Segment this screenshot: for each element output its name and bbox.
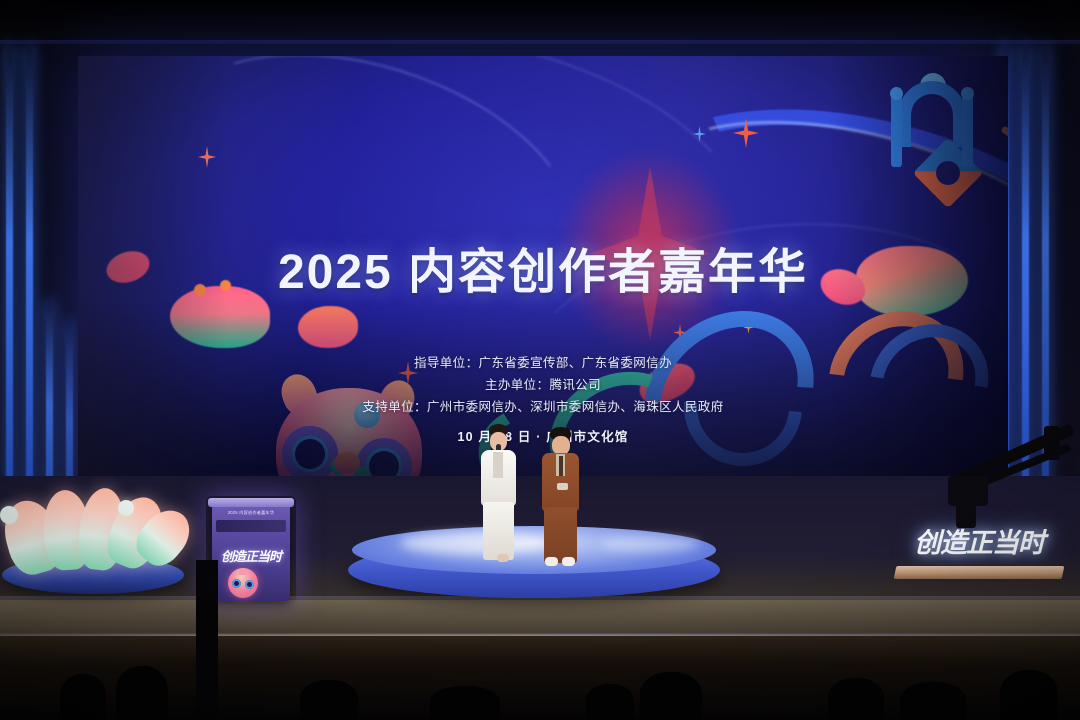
platform-highlight: [400, 532, 550, 554]
audience-silhouette: [116, 666, 168, 720]
credit-line-support: 支持单位：广州市委网信办、深圳市委网信办、海珠区人民政府: [78, 396, 1008, 418]
foreground-pillar: [196, 560, 218, 720]
audience-silhouette: [60, 674, 106, 720]
sculpture-bead: [118, 500, 134, 516]
calligraphy-sign-base: [894, 566, 1065, 579]
credit-line-guidance: 指导单位：广东省委宣传部、广东省委网信办: [78, 352, 1008, 374]
podium-header-text: 2025 内容创作者嘉年华: [216, 507, 286, 518]
event-title: 2025 内容创作者嘉年华: [78, 232, 1008, 302]
platform-highlight: [600, 536, 700, 552]
podium-band: [216, 520, 286, 532]
podium-top: [208, 498, 294, 507]
stage-photo: 2025 内容创作者嘉年华 指导单位：广东省委宣传部、广东省委网信办 主办单位：…: [0, 0, 1080, 720]
audience-silhouette: [828, 678, 884, 720]
podium-mascot-icon: [228, 568, 258, 598]
credit-line-organizer: 主办单位：腾讯公司: [78, 374, 1008, 396]
audience-silhouette: [586, 684, 634, 720]
credits-block: 指导单位：广东省委宣传部、广东省委网信办 主办单位：腾讯公司 支持单位：广州市委…: [78, 352, 1008, 418]
podium-calligraphy-text: 创造正当时: [221, 550, 281, 564]
host-male: [537, 427, 583, 567]
camera-crane-icon: [948, 418, 1080, 548]
audience-silhouette: [430, 686, 500, 720]
audience-silhouette: [900, 682, 966, 720]
led-screen: 2025 内容创作者嘉年华 指导单位：广东省委宣传部、广东省委网信办 主办单位：…: [78, 56, 1008, 476]
host-female: [477, 424, 519, 564]
audience-silhouette: [300, 680, 358, 720]
sculpture-bead: [0, 506, 18, 524]
audience-silhouette: [640, 672, 702, 720]
audience-area: [0, 636, 1080, 720]
audience-silhouette: [1000, 670, 1058, 720]
